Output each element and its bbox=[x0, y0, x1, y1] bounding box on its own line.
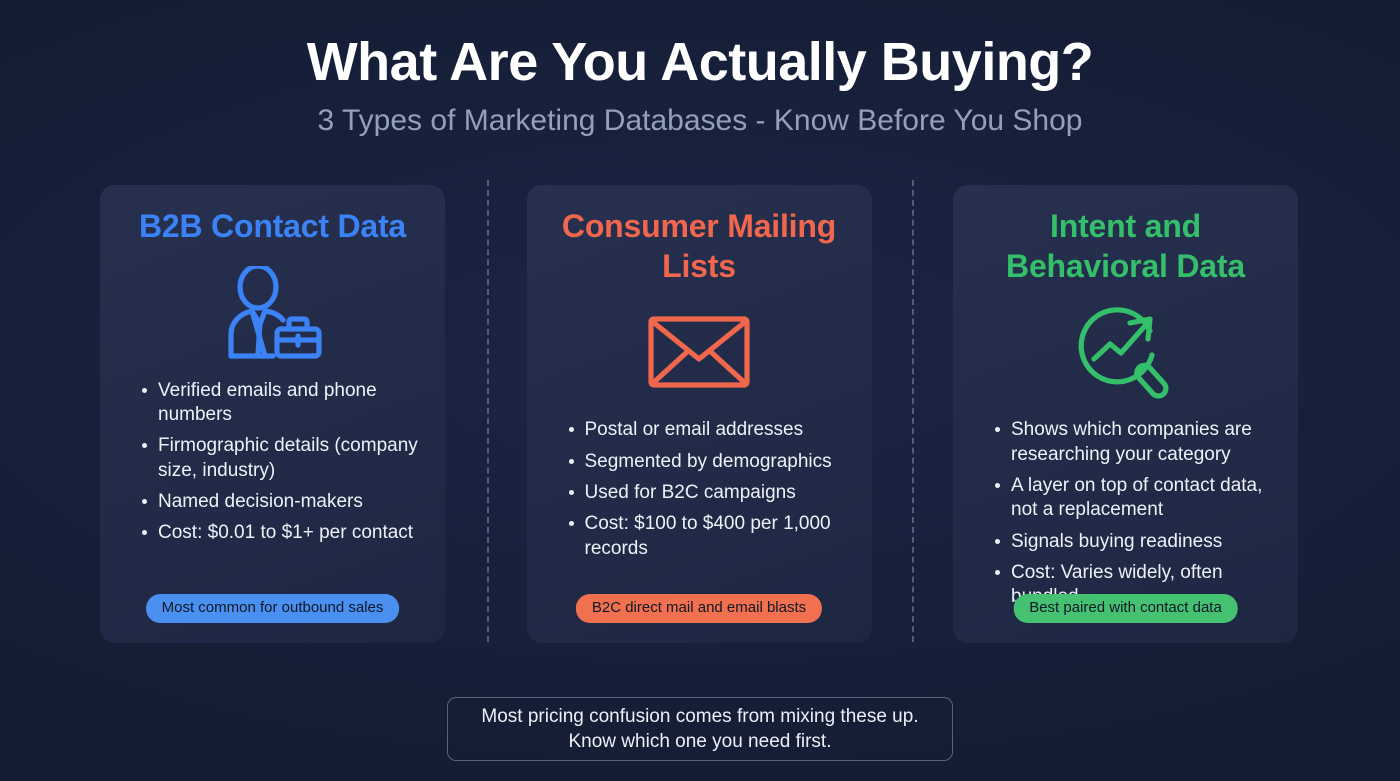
card-intent-behavioral-data[interactable]: Intent and Behavioral Data Shows which c… bbox=[953, 185, 1298, 643]
list-item: Cost: $0.01 to $1+ per contact bbox=[142, 521, 427, 545]
card-b2b-contact-data[interactable]: B2B Contact Data Verified emails bbox=[100, 185, 445, 643]
list-item: Used for B2C campaigns bbox=[569, 481, 854, 505]
businessperson-briefcase-icon bbox=[221, 261, 325, 365]
status-badge: Most common for outbound sales bbox=[146, 594, 400, 624]
magnifier-trend-arrow-icon bbox=[1072, 300, 1180, 404]
list-item: Cost: $100 to $400 per 1,000 records bbox=[569, 512, 854, 561]
list-item: A layer on top of contact data, not a re… bbox=[995, 474, 1280, 523]
list-item: Shows which companies are researching yo… bbox=[995, 418, 1280, 467]
envelope-icon bbox=[647, 300, 751, 404]
status-badge: B2C direct mail and email blasts bbox=[576, 594, 822, 624]
infographic-page: What Are You Actually Buying? 3 Types of… bbox=[0, 0, 1400, 781]
list-item: Signals buying readiness bbox=[995, 530, 1280, 554]
cards-container: B2B Contact Data Verified emails bbox=[100, 185, 1298, 643]
list-item: Segmented by demographics bbox=[569, 450, 854, 474]
card-title: Consumer Mailing Lists bbox=[545, 207, 854, 286]
list-item: Verified emails and phone numbers bbox=[142, 379, 427, 428]
header: What Are You Actually Buying? 3 Types of… bbox=[0, 0, 1400, 139]
card-consumer-mailing-lists[interactable]: Consumer Mailing Lists Postal or email a… bbox=[527, 185, 872, 643]
card-title: B2B Contact Data bbox=[139, 207, 406, 247]
list-item: Firmographic details (company size, indu… bbox=[142, 434, 427, 483]
status-badge: Best paired with contact data bbox=[1013, 594, 1238, 624]
list-item: Named decision-makers bbox=[142, 490, 427, 514]
card-bullet-list: Verified emails and phone numbers Firmog… bbox=[118, 379, 427, 553]
page-title: What Are You Actually Buying? bbox=[0, 34, 1400, 91]
list-item: Postal or email addresses bbox=[569, 418, 854, 442]
card-title: Intent and Behavioral Data bbox=[971, 207, 1280, 286]
page-subtitle: 3 Types of Marketing Databases - Know Be… bbox=[0, 103, 1400, 139]
card-bullet-list: Shows which companies are researching yo… bbox=[971, 418, 1280, 616]
footer-note: Most pricing confusion comes from mixing… bbox=[447, 697, 953, 761]
card-bullet-list: Postal or email addresses Segmented by d… bbox=[545, 418, 854, 568]
